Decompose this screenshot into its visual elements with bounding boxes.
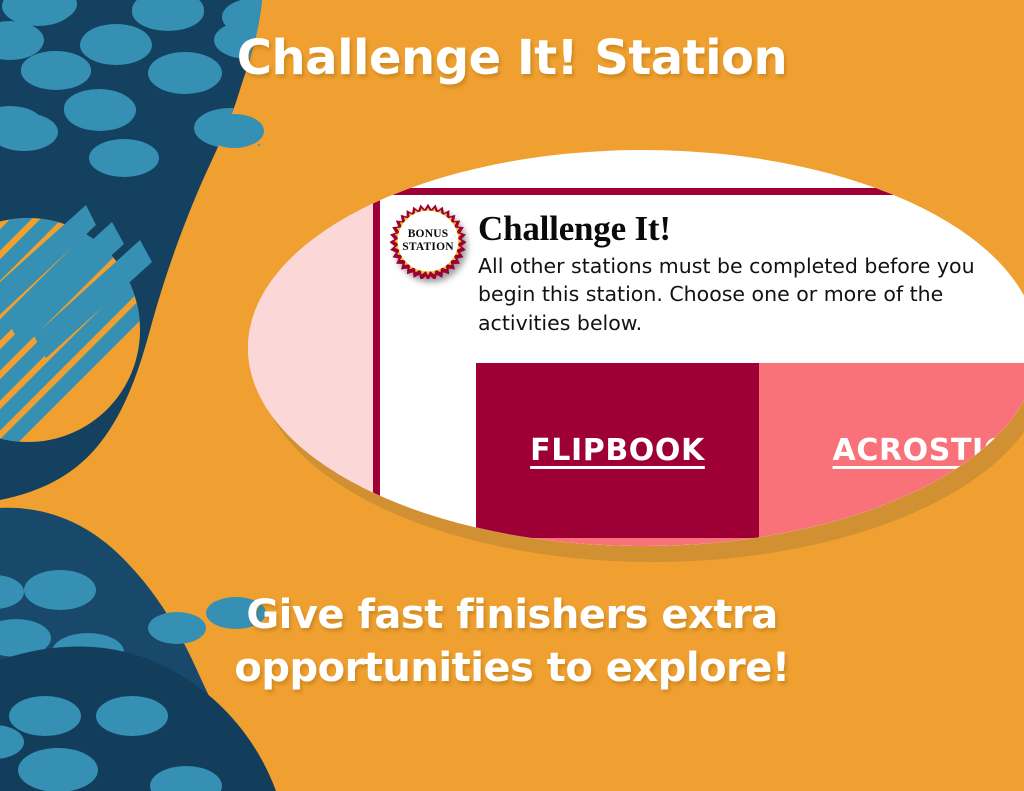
body-line-2: begin this station. Choose one or more o… <box>478 280 1024 308</box>
activity-link-acrostic-label: ACROSTIC <box>833 433 1007 468</box>
document-body: All other stations must be completed bef… <box>478 252 1024 337</box>
caption-line-1: Give fast finishers extra <box>150 589 874 642</box>
badge-line-1: BONUS <box>408 228 449 241</box>
teal-dots-bottom-front <box>0 696 222 791</box>
activity-link-acrostic[interactable]: ACROSTIC <box>759 363 1024 538</box>
striped-spikes <box>0 205 152 358</box>
activity-link-flipbook[interactable]: FLIPBOOK <box>476 363 759 538</box>
body-line-3: activities below. <box>478 309 1024 337</box>
teal-dots-top <box>0 0 290 177</box>
body-line-1: All other stations must be completed bef… <box>478 252 1024 280</box>
activity-bottom-rail <box>476 538 1024 546</box>
medallion-frame: BONUS STATION Challenge It! All other st… <box>248 150 1024 546</box>
activity-link-flipbook-label: FLIPBOOK <box>530 433 705 468</box>
page-caption: Give fast finishers extra opportunities … <box>0 589 1024 695</box>
caption-line-2: opportunities to explore! <box>150 642 874 695</box>
page-left-margin <box>248 150 391 546</box>
poster-canvas: Challenge It! Station BONUS <box>0 0 1024 791</box>
station-preview-medallion[interactable]: BONUS STATION Challenge It! All other st… <box>248 150 1024 546</box>
badge-line-2: STATION <box>402 241 453 254</box>
station-document: BONUS STATION Challenge It! All other st… <box>373 188 1024 546</box>
bonus-station-badge: BONUS STATION <box>390 203 466 279</box>
document-heading: Challenge It! <box>478 211 671 246</box>
page-title: Challenge It! Station <box>0 33 1024 83</box>
document-content: BONUS STATION Challenge It! All other st… <box>380 195 1024 546</box>
badge-label: BONUS STATION <box>390 203 466 279</box>
activity-links: FLIPBOOK ACROSTIC <box>476 363 1024 546</box>
